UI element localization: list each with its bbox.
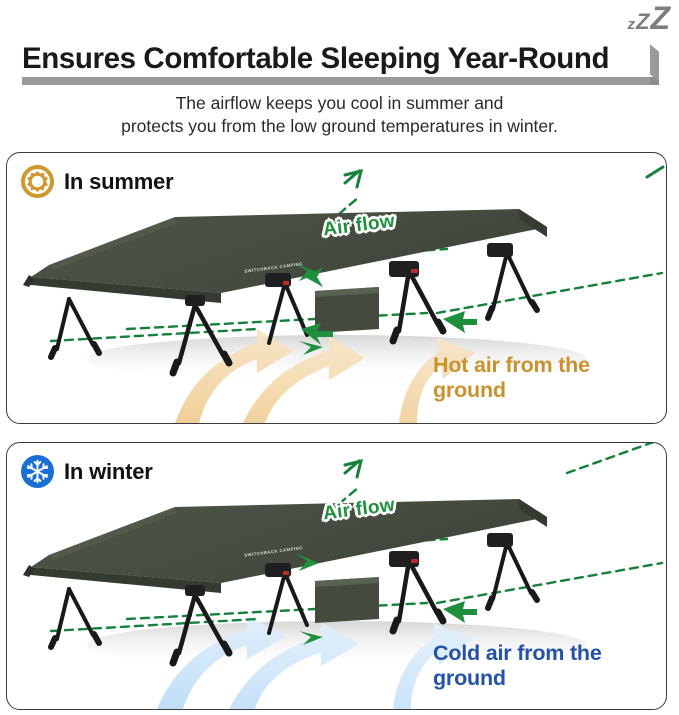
header: zZZ Ensures Comfortable Sleeping Year-Ro…	[0, 0, 679, 140]
sun-icon	[21, 165, 54, 198]
snowflake-icon-glyph	[21, 455, 54, 488]
snowflake-icon	[21, 455, 54, 488]
zzz-medium: Z	[636, 9, 650, 34]
winter-header: In winter	[21, 455, 153, 488]
page-title-block: Ensures Comfortable Sleeping Year-Round	[22, 44, 662, 74]
zzz-large: Z	[650, 0, 671, 36]
subtitle-line-1: The airflow keeps you cool in summer and	[176, 93, 504, 113]
cold-air-callout-line-2: ground	[433, 666, 506, 690]
subtitle-line-2: protects you from the low ground tempera…	[0, 115, 679, 138]
dashed-arrow-right	[647, 167, 663, 177]
title-underline-bar	[22, 77, 650, 85]
dashed-arrow-up-winter	[345, 461, 361, 477]
page-title: Ensures Comfortable Sleeping Year-Round	[22, 44, 662, 74]
cold-air-callout-line-1: Cold air from the	[433, 641, 602, 665]
summer-header: In summer	[21, 165, 173, 198]
infographic-page: zZZ Ensures Comfortable Sleeping Year-Ro…	[0, 0, 679, 715]
panel-in-winter: In winter Air flow SWITCHBACK CAMPING Co…	[6, 442, 667, 710]
cold-air-callout: Cold air from the ground	[433, 641, 602, 691]
dashed-arrow-up	[345, 171, 361, 187]
panel-in-summer: In summer Air flow SWITCHBACK CAMPING Ho…	[6, 152, 667, 424]
hot-air-callout: Hot air from the ground	[433, 353, 590, 403]
sleep-zzz-icon: zZZ	[628, 2, 672, 34]
page-subtitle: The airflow keeps you cool in summer and…	[0, 92, 679, 138]
hot-air-callout-line-1: Hot air from the	[433, 353, 590, 377]
zzz-small: z	[628, 16, 637, 33]
panel-title-winter: In winter	[64, 459, 153, 485]
sun-icon-star	[27, 171, 48, 192]
hot-air-callout-line-2: ground	[433, 378, 506, 402]
panel-title-summer: In summer	[64, 169, 173, 195]
